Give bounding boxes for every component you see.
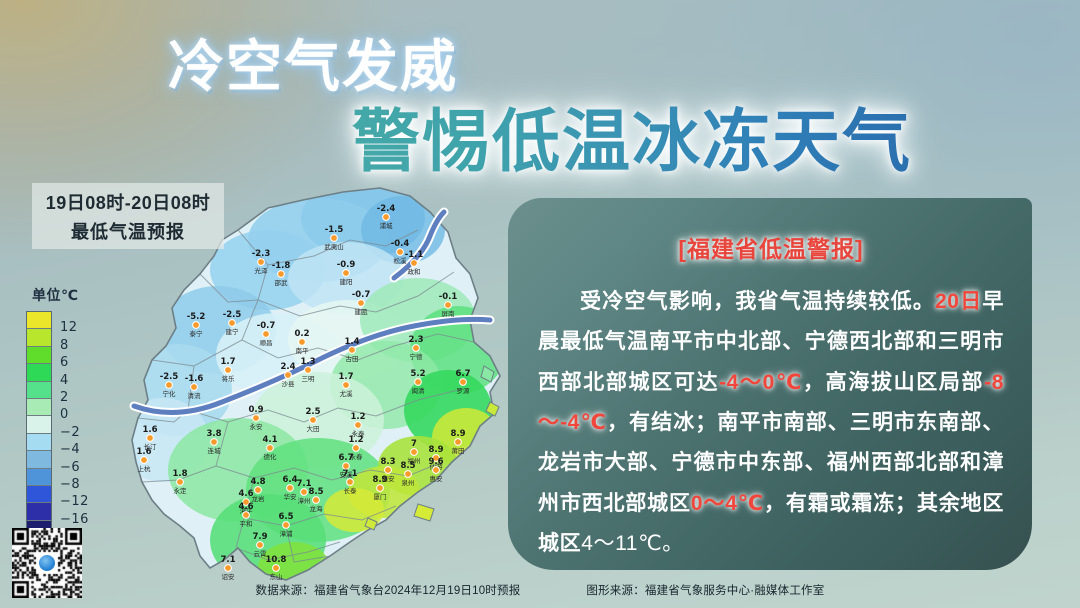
station-value: 8.5: [308, 487, 323, 497]
station-marker-icon: [347, 479, 354, 486]
station-name: 漳州: [298, 496, 311, 505]
warning-panel: [福建省低温警报] 受冷空气影响，我省气温持续较低。20日早晨最低气温南平市中北…: [508, 198, 1032, 570]
station-marker-icon: [433, 467, 440, 474]
station-name: 莆田: [452, 446, 465, 455]
legend-tick-6: −2: [60, 425, 80, 440]
station-name: 宁化: [163, 389, 177, 398]
station-marker-icon: [310, 417, 317, 424]
station-value: 7.1: [342, 469, 357, 479]
station-marker-icon: [355, 422, 362, 429]
station-name: 漳浦: [280, 529, 294, 538]
station-name: 屏南: [442, 309, 456, 318]
panel-text-segment-4: ，高海拔山区局部: [803, 371, 984, 394]
footer: 数据来源：福建省气象台2024年12月19日10时预报 图形来源：福建省气象服务…: [0, 582, 1080, 598]
station-marker-icon: [147, 435, 154, 442]
legend-swatch-1: [27, 329, 51, 346]
station-value: -2.3: [252, 249, 271, 259]
station-marker-icon: [343, 382, 350, 389]
station-marker-icon: [405, 471, 412, 478]
station-marker-icon: [166, 382, 173, 389]
legend-tick-2: 6: [60, 355, 69, 370]
station-marker-icon: [258, 259, 265, 266]
legend-swatch-2: [27, 347, 51, 364]
panel-text-segment-0: 受冷空气影响，我省气温持续较低。: [580, 290, 935, 313]
map-station: 7.1诏安: [220, 555, 235, 581]
warning-panel-title: [福建省低温警报]: [538, 230, 1004, 264]
station-marker-icon: [358, 300, 365, 307]
station-name: 将乐: [222, 374, 236, 383]
station-value: 9.6: [428, 457, 443, 467]
station-marker-icon: [411, 260, 418, 267]
title-block: 冷空气发威 警惕低温冰冻天气: [0, 0, 1080, 185]
station-marker-icon: [253, 415, 260, 422]
station-name: 尤溪: [340, 389, 354, 398]
station-value: 10.8: [266, 555, 287, 565]
panel-text-segment-3: -4～0℃: [719, 371, 803, 394]
station-marker-icon: [377, 485, 384, 492]
station-name: 宁德: [410, 352, 424, 361]
station-marker-icon: [273, 565, 280, 572]
warning-panel-body: 受冷空气影响，我省气温持续较低。20日早晨最低气温南平市中北部、宁德西北部和三明…: [538, 282, 1004, 564]
legend-title: 单位℃: [32, 285, 136, 305]
station-name: 龙海: [310, 504, 324, 513]
station-marker-icon: [141, 457, 148, 464]
caption-line-1: 19日08时-20日08时: [46, 189, 211, 215]
station-marker-icon: [305, 367, 312, 374]
station-value: 8.5: [400, 461, 415, 471]
station-name: 华安: [284, 492, 298, 501]
station-name: 泰宁: [190, 329, 204, 338]
station-value: 8.9: [372, 475, 387, 485]
station-value: 1.8: [172, 469, 187, 479]
station-marker-icon: [460, 379, 467, 386]
station-marker-icon: [263, 331, 270, 338]
station-marker-icon: [278, 271, 285, 278]
legend-swatch-10: [27, 486, 51, 503]
station-value: 6.7: [338, 453, 353, 463]
station-marker-icon: [177, 479, 184, 486]
station-value: 8.3: [380, 457, 395, 467]
station-value: -0.9: [337, 260, 356, 270]
station-name: 政和: [408, 267, 421, 276]
station-name: 平和: [240, 519, 253, 528]
legend-tick-9: −8: [60, 477, 80, 492]
station-name: 永泰: [352, 429, 366, 438]
station-value: 4.6: [238, 489, 253, 499]
station-value: 1.3: [300, 357, 315, 367]
station-name: 大田: [307, 424, 320, 433]
station-marker-icon: [413, 345, 420, 352]
station-value: 1.7: [338, 372, 353, 382]
station-name: 连城: [208, 446, 222, 455]
station-name: 浦城: [380, 221, 394, 230]
station-value: -5.2: [187, 312, 206, 322]
legend-tick-4: 2: [60, 390, 69, 405]
station-value: -1.1: [405, 250, 424, 260]
qr-center-logo-icon: [37, 553, 57, 573]
station-name: 德化: [264, 452, 278, 461]
station-value: 0.2: [294, 329, 309, 339]
station-name: 光泽: [255, 266, 269, 275]
station-name: 邵武: [275, 278, 289, 287]
station-value: 2.5: [305, 407, 320, 417]
legend-tick-labels: 1286420−2−4−6−8−12−16: [60, 311, 120, 539]
station-marker-icon: [257, 542, 264, 549]
station-value: 6.4: [282, 475, 297, 485]
legend-swatch-7: [27, 434, 51, 451]
station-name: 长泰: [344, 486, 358, 495]
station-value: -1.5: [325, 225, 344, 235]
station-value: 4.1: [262, 435, 277, 445]
station-name: 顺昌: [260, 339, 273, 347]
station-value: 1.4: [344, 337, 359, 347]
station-value: -1.8: [272, 261, 291, 271]
station-name: 东山: [270, 572, 283, 581]
map-date-caption: 19日08时-20日08时 最低气温预报: [32, 183, 224, 249]
station-name: 诏安: [222, 572, 236, 581]
station-value: -2.5: [160, 372, 179, 382]
station-marker-icon: [385, 467, 392, 474]
station-name: 建阳: [340, 277, 353, 286]
legend-swatch-0: [27, 312, 51, 329]
station-value: -1.6: [185, 374, 204, 384]
station-name: 惠安: [430, 474, 444, 483]
station-marker-icon: [415, 379, 422, 386]
station-value: 1.6: [136, 447, 151, 457]
station-value: -0.1: [439, 292, 458, 302]
station-value: 6.5: [278, 512, 293, 522]
station-marker-icon: [397, 249, 404, 256]
panel-text-segment-7: 0～4℃: [691, 492, 764, 515]
station-marker-icon: [383, 214, 390, 221]
legend-tick-0: 12: [60, 320, 78, 335]
caption-line-2: 最低气温预报: [71, 218, 185, 244]
legend-tick-10: −12: [60, 494, 89, 509]
station-name: 南平: [296, 346, 310, 355]
station-marker-icon: [255, 487, 262, 494]
legend-swatch-9: [27, 469, 51, 486]
station-value: -0.7: [352, 290, 371, 300]
color-legend: 单位℃ 1286420−2−4−6−8−12−16: [26, 285, 136, 539]
legend-swatch-6: [27, 416, 51, 433]
station-marker-icon: [411, 449, 418, 456]
station-value: -0.4: [391, 239, 410, 249]
station-marker-icon: [331, 235, 338, 242]
station-name: 沙县: [282, 380, 296, 388]
station-name: 罗源: [457, 386, 471, 395]
station-marker-icon: [211, 439, 218, 446]
station-marker-icon: [193, 322, 200, 329]
footer-graphic-source: 图形来源：福建省气象服务中心·融媒体工作室: [586, 582, 824, 598]
station-name: 永安: [250, 422, 264, 431]
station-name: 古田: [346, 354, 359, 363]
station-marker-icon: [267, 445, 274, 452]
legend-tick-7: −4: [60, 442, 80, 457]
legend-tick-8: −6: [60, 460, 80, 475]
legend-swatch-4: [27, 382, 51, 399]
legend-swatch-3: [27, 364, 51, 381]
station-value: 4.8: [250, 477, 265, 487]
station-marker-icon: [455, 439, 462, 446]
station-value: 4.6: [238, 502, 253, 512]
station-name: 泉州: [402, 478, 415, 487]
station-marker-icon: [283, 522, 290, 529]
station-value: 3.8: [206, 429, 221, 439]
legend-colorbar: [26, 311, 52, 539]
station-name: 厦门: [374, 492, 387, 501]
station-marker-icon: [225, 367, 232, 374]
station-value: 7.1: [220, 555, 235, 565]
station-name: 建宁: [226, 327, 240, 336]
station-value: 0.9: [248, 405, 263, 415]
footer-data-source: 数据来源：福建省气象台2024年12月19日10时预报: [256, 582, 521, 598]
station-value: 8.9: [450, 429, 465, 439]
legend-swatch-11: [27, 503, 51, 520]
station-value: -0.7: [257, 321, 276, 331]
station-marker-icon: [225, 565, 232, 572]
station-value: 6.7: [455, 369, 470, 379]
station-marker-icon: [299, 339, 306, 346]
station-marker-icon: [301, 489, 308, 496]
station-marker-icon: [191, 384, 198, 391]
station-marker-icon: [243, 512, 250, 519]
panel-text-segment-1: 20日: [935, 290, 982, 313]
station-marker-icon: [343, 270, 350, 277]
station-marker-icon: [313, 497, 320, 504]
legend-swatch-5: [27, 399, 51, 416]
station-name: 永定: [174, 486, 188, 495]
station-value: 1.6: [142, 425, 157, 435]
station-marker-icon: [285, 372, 292, 379]
station-name: 三明: [302, 375, 316, 383]
station-marker-icon: [287, 485, 294, 492]
station-value: 7: [411, 439, 417, 449]
station-name: 建瓯: [355, 307, 369, 316]
legend-tick-11: −16: [60, 512, 89, 527]
station-value: 1.7: [220, 357, 235, 367]
legend-tick-1: 8: [60, 338, 69, 353]
legend-swatch-8: [27, 451, 51, 468]
panel-text-segment-9: 4～11℃。: [581, 532, 684, 555]
station-value: 2.3: [408, 335, 423, 345]
station-value: 7.9: [252, 532, 267, 542]
station-name: 闽清: [412, 386, 426, 395]
station-value: -2.5: [223, 310, 242, 320]
station-value: 2.4: [280, 362, 295, 372]
station-value: -2.4: [377, 204, 396, 214]
station-value: 5.2: [410, 369, 425, 379]
legend-tick-3: 4: [60, 373, 69, 388]
station-value: 8.9: [428, 445, 443, 455]
station-marker-icon: [349, 347, 356, 354]
station-name: 武夷山: [324, 242, 344, 251]
station-name: 清流: [188, 391, 202, 400]
station-value: 1.2: [350, 412, 365, 422]
station-marker-icon: [445, 302, 452, 309]
station-marker-icon: [353, 445, 360, 452]
legend-tick-5: 0: [60, 407, 69, 422]
station-marker-icon: [229, 320, 236, 327]
station-name: 上杭: [138, 464, 152, 473]
